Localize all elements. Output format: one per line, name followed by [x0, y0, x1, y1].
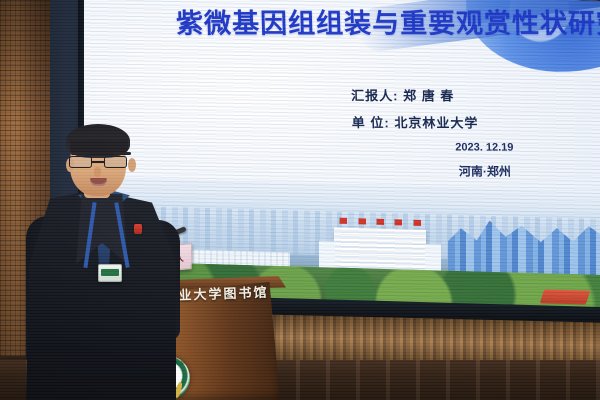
glasses-lens-right	[104, 156, 127, 168]
badge-stripe	[101, 269, 119, 276]
eyebrow-right	[113, 152, 131, 155]
presentation-photo: 紫微基因组组装与重要观赏性状研究 汇报人: 郑 唐 春 单 位: 北京林业大学 …	[0, 0, 600, 400]
glasses-lens-left	[69, 156, 92, 168]
ear-right	[128, 158, 136, 172]
lapel-pin-icon	[134, 224, 142, 234]
nose	[94, 167, 101, 177]
eyebrow-left	[71, 152, 89, 155]
glasses-bridge	[92, 161, 104, 163]
id-badge	[98, 264, 122, 282]
speaker-figure	[26, 124, 176, 400]
